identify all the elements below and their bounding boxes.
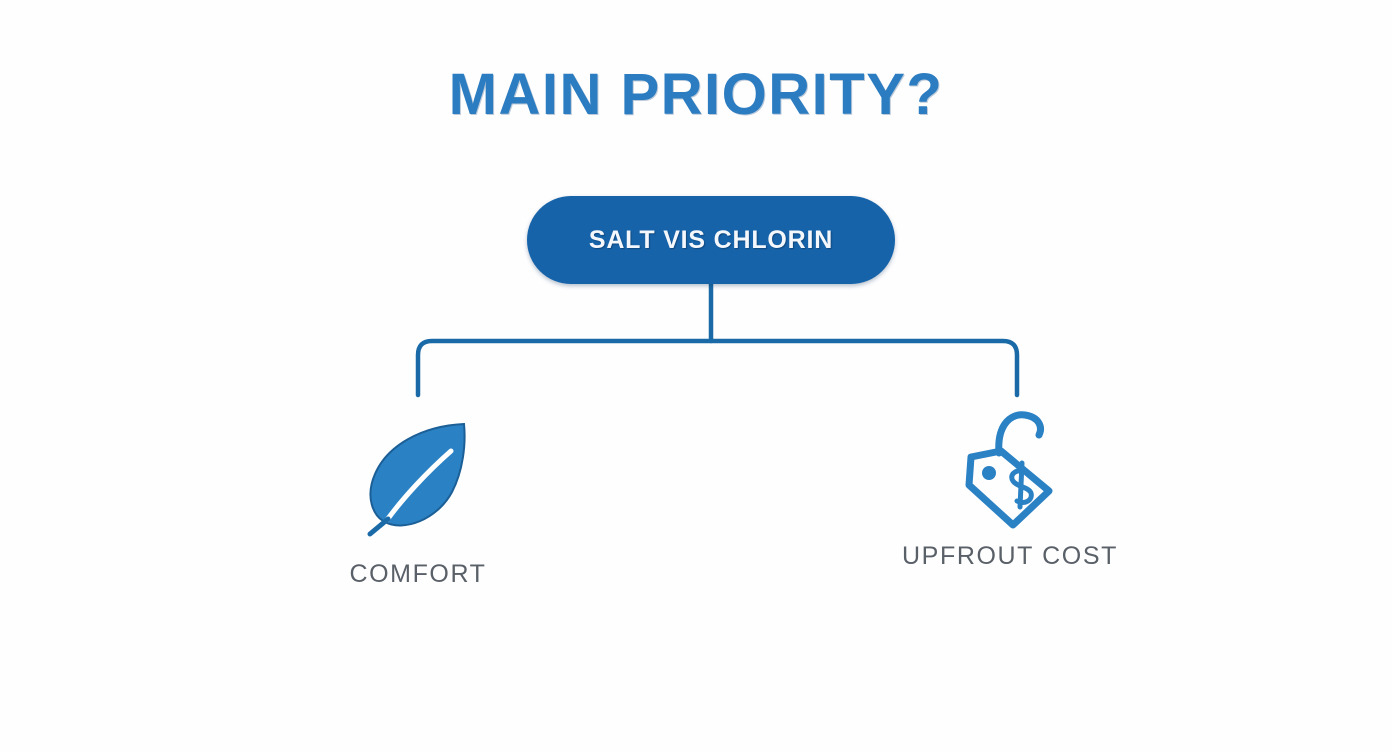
price-tag-dollar-icon bbox=[951, 401, 1069, 533]
option-comfort-label: COMFORT bbox=[268, 560, 568, 589]
tag-hole-icon bbox=[982, 466, 996, 480]
diagram-canvas: MAIN PRIORITY? COMFORT bbox=[0, 0, 1392, 752]
page-title: MAIN PRIORITY? bbox=[0, 66, 1392, 124]
option-upfront-cost-label: UPFROUT COST bbox=[860, 542, 1160, 571]
price-tag-icon-wrapper bbox=[860, 402, 1160, 532]
leaf-icon bbox=[359, 416, 477, 538]
option-upfront-cost[interactable]: UPFROUT COST bbox=[860, 402, 1160, 571]
decision-pill-label: SALT VIS CHLORIN bbox=[589, 226, 833, 255]
connector-branch-bar bbox=[418, 341, 1017, 395]
leaf-icon-wrapper bbox=[268, 412, 568, 542]
option-comfort[interactable]: COMFORT bbox=[268, 412, 568, 589]
decision-pill[interactable]: SALT VIS CHLORIN bbox=[527, 196, 895, 284]
